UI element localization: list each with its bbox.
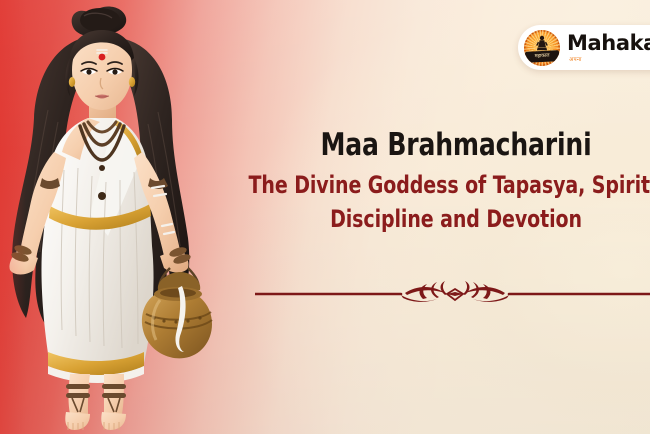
banner-container: महाकाल Mahakal.c अपना Maa Brahmacharini … bbox=[0, 0, 650, 434]
mahakal-logo[interactable]: महाकाल Mahakal.c अपना bbox=[518, 25, 650, 70]
logo-wordmark-text: Mahakal.c bbox=[567, 32, 650, 54]
goddess-illustration bbox=[0, 0, 232, 434]
logo-wordmark: Mahakal.c अपना bbox=[567, 32, 650, 63]
ornamental-divider bbox=[255, 281, 650, 307]
headline-block: Maa Brahmacharini The Divine Goddess of … bbox=[196, 128, 650, 236]
badge-devanagari-banner: महाकाल bbox=[525, 50, 559, 63]
badge-devanagari-text: महाकाल bbox=[535, 53, 550, 59]
logo-tagline: अपना bbox=[569, 55, 650, 63]
page-title: Maa Brahmacharini bbox=[222, 128, 650, 163]
subtitle-line-1: The Divine Goddess of Tapasya, Spiritu bbox=[227, 169, 650, 201]
ornamental-flourish-icon bbox=[255, 281, 650, 307]
shiva-badge-icon: महाकाल bbox=[524, 30, 560, 66]
subtitle-line-2: Discipline and Devotion bbox=[227, 203, 650, 235]
